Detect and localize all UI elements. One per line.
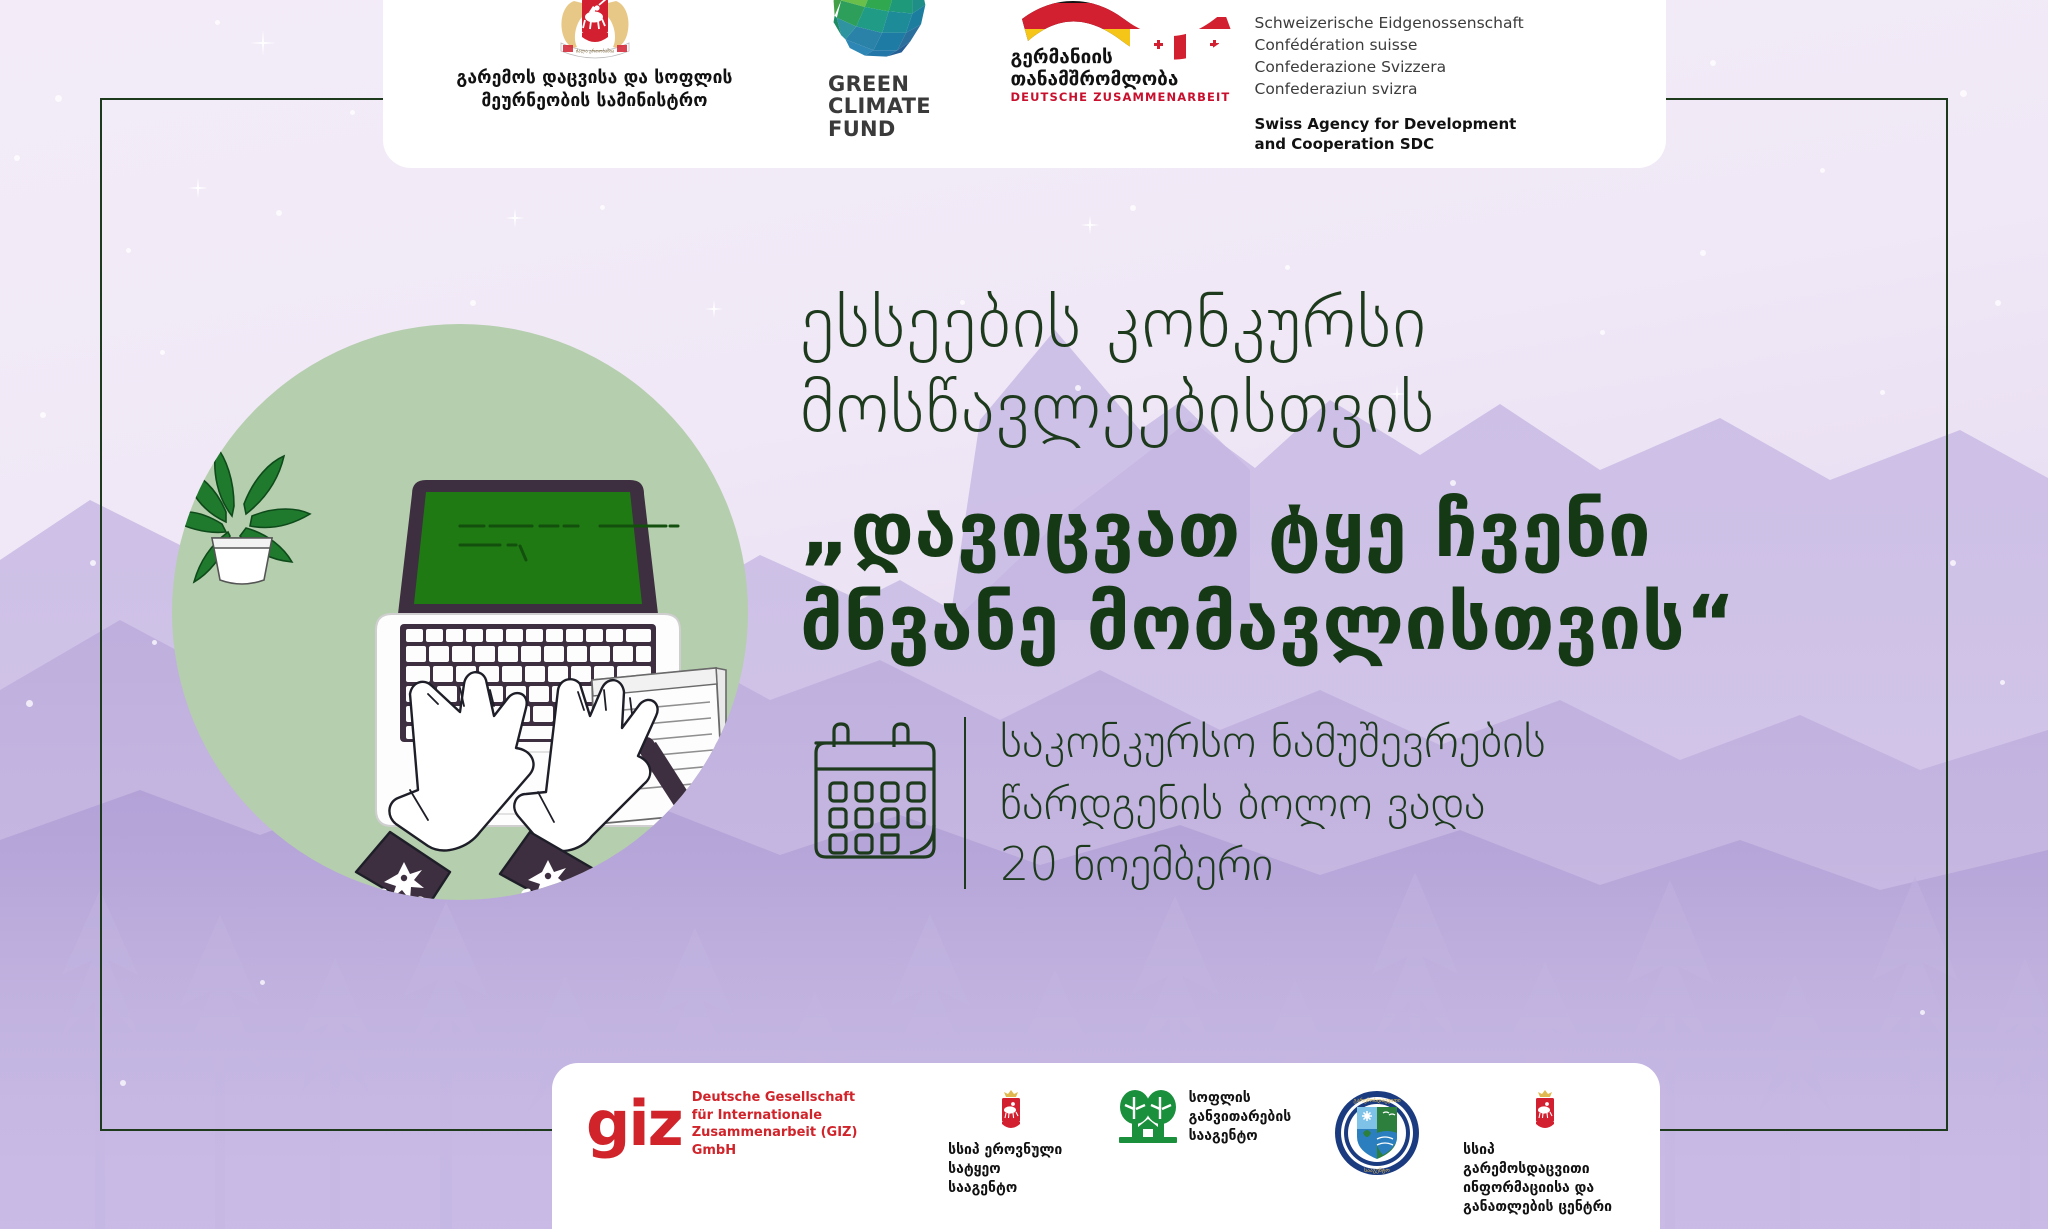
headline-line-1: „დავიცვათ ტყე ჩვენი [800, 484, 1980, 577]
ministry-line-2: მეურნეობის სამინისტრო [456, 90, 732, 113]
rural-development-agency-trees-icon [1117, 1089, 1179, 1145]
headline-text: „დავიცვათ ტყე ჩვენი მნვანე მომავლისთვის“ [800, 484, 1980, 669]
main-content: ესსეების კონკურსი მოსწავლეებისთვის „დავი… [800, 280, 1980, 895]
environmental-agency-logo-block: გარემოსდაცვითი სააგენტო [1333, 1089, 1421, 1177]
kicker-text: ესსეების კონკურსი მოსწავლეებისთვის [800, 280, 1980, 450]
forestry-agency-text: სსიპ ეროვნული სატყეო სააგენტო [948, 1141, 1074, 1198]
deadline-text: საკონკურსო ნამუშევრების წარდგენის ბოლო ვ… [1000, 711, 1546, 895]
germany-geo-line-1: გერმანიის [1011, 47, 1231, 68]
giz-wordmark: giz [586, 1099, 682, 1149]
rural-line-3: სააგენტო [1189, 1127, 1292, 1146]
top-partner-logo-bar: ძალა ერთობაშია გარემოს დაცვისა და სოფლის… [383, 0, 1666, 168]
rural-line-2: განვითარების [1189, 1108, 1292, 1127]
swiss-agency-line-1: Swiss Agency for Development [1255, 114, 1524, 134]
svg-text:სააგენტო: სააგენტო [1364, 1167, 1390, 1174]
national-forestry-agency-crest-icon [994, 1089, 1028, 1137]
swiss-line-3: Confederazione Svizzera [1255, 56, 1524, 78]
calendar-icon [800, 717, 950, 867]
info-centre-line-1: სსიპ გარემოსდაცვითი [1463, 1141, 1626, 1179]
deadline-line-2: წარდგენის ბოლო ვადა [1000, 773, 1546, 834]
georgia-coat-of-arms: ძალა ერთობაშია [549, 0, 641, 63]
german-cooperation-logo-block: გერმანიის თანამშრომლობა DEUTSCHE ZUSAMME… [1005, 0, 1255, 104]
gcf-line-1: GREEN [828, 73, 931, 96]
forestry-agency-logo-block: სსიპ ეროვნული სატყეო სააგენტო [948, 1089, 1074, 1198]
green-climate-fund-globe-icon [826, 0, 934, 61]
giz-subtext: Deutsche Gesellschaft für Internationale… [692, 1089, 906, 1159]
info-centre-line-3: განათლების ცენტრი [1463, 1198, 1626, 1217]
bottom-partner-logo-bar: giz Deutsche Gesellschaft für Internatio… [552, 1063, 1660, 1229]
environmental-info-centre-logo-block: სსიპ გარემოსდაცვითი ინფორმაციისა და განა… [1463, 1089, 1626, 1217]
calendar-icon-wrapper [800, 711, 960, 871]
green-climate-fund-logo-block: GREEN CLIMATE FUND [755, 0, 1005, 141]
swiss-line-2: Confédération suisse [1255, 34, 1524, 56]
swiss-line-1: Schweizerische Eidgenossenschaft [1255, 12, 1524, 34]
swiss-cooperation-logo-block: Schweizerische Eidgenossenschaft Confédé… [1255, 0, 1615, 154]
swiss-agency-line-2: and Cooperation SDC [1255, 134, 1524, 154]
deadline-block: საკონკურსო ნამუშევრების წარდგენის ბოლო ვ… [800, 711, 1980, 895]
deadline-line-1: საკონკურსო ნამუშევრების [1000, 711, 1546, 772]
environmental-info-education-centre-crest-icon [1528, 1089, 1562, 1137]
giz-sub-line-2: für Internationale [692, 1107, 906, 1125]
info-centre-line-2: ინფორმაციისა და [1463, 1179, 1626, 1198]
germany-geo-line-2: თანამშრომლობა [1011, 69, 1231, 90]
forestry-line-2: სატყეო სააგენტო [948, 1160, 1074, 1198]
rural-line-1: სოფლის [1189, 1089, 1292, 1108]
svg-text:ძალა ერთობაშია: ძალა ერთობაშია [575, 47, 614, 54]
rural-development-agency-logo-block: სოფლის განვითარების სააგენტო [1117, 1089, 1292, 1146]
laptop-illustration-wrapper [160, 312, 760, 912]
headline-line-2: მნვანე მომავლისთვის“ [800, 577, 1980, 670]
laptop-screen [398, 480, 678, 614]
giz-logo-block: giz Deutsche Gesellschaft für Internatio… [586, 1089, 906, 1159]
kicker-line-1: ესსეების კონკურსი [800, 280, 1980, 365]
ministry-logo-text: გარემოს დაცვისა და სოფლის მეურნეობის სამ… [456, 67, 732, 113]
giz-sub-line-3: Zusammenarbeit (GIZ) GmbH [692, 1124, 906, 1159]
germany-tagline: DEUTSCHE ZUSAMMENARBEIT [1011, 90, 1231, 104]
giz-sub-line-1: Deutsche Gesellschaft [692, 1089, 906, 1107]
swiss-line-4: Confederaziun svizra [1255, 78, 1524, 100]
svg-text:გარემოსდაცვითი: გარემოსდაცვითი [1353, 1097, 1400, 1104]
gcf-wordmark: GREEN CLIMATE FUND [828, 73, 931, 141]
rural-development-text: სოფლის განვითარების სააგენტო [1189, 1089, 1292, 1146]
forestry-line-1: სსიპ ეროვნული [948, 1141, 1074, 1160]
kicker-line-2: მოსწავლეებისთვის [800, 365, 1980, 450]
ministry-line-1: გარემოს დაცვისა და სოფლის [456, 67, 732, 90]
hands-typing-on-laptop-illustration [160, 312, 760, 912]
gcf-line-2: CLIMATE [828, 95, 931, 118]
ministry-logo-block: ძალა ერთობაშია გარემოს დაცვისა და სოფლის… [435, 0, 755, 113]
gcf-line-3: FUND [828, 118, 931, 141]
deadline-divider [964, 717, 966, 889]
environmental-agency-round-seal-icon: გარემოსდაცვითი სააგენტო [1333, 1089, 1421, 1177]
info-centre-text: სსიპ გარემოსდაცვითი ინფორმაციისა და განა… [1463, 1141, 1626, 1217]
deadline-line-3: 20 ნოემბერი [1000, 834, 1546, 895]
